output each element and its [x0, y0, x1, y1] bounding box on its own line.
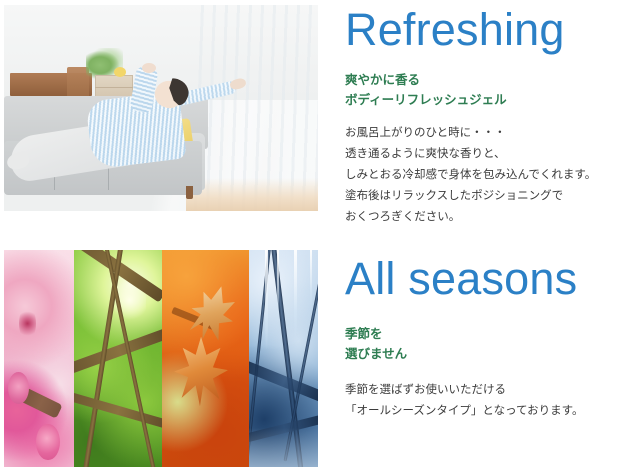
blossom-bud	[36, 424, 60, 461]
all-seasons-subheading-line-2: 選びません	[345, 344, 637, 364]
four-seasons-photo-art	[4, 250, 318, 467]
snow-layer	[249, 428, 318, 467]
product-feature-page: Refreshing 爽やかに香る ボディーリフレッシュジェル お風呂上がりのひ…	[0, 0, 640, 474]
icicle	[310, 250, 312, 311]
vine-branch	[74, 328, 162, 374]
cherry-blossom-center	[19, 306, 36, 341]
all-seasons-body-line-2: 「オールシーズンタイプ」となっております。	[345, 401, 637, 422]
season-panel-spring	[4, 250, 74, 467]
section-refreshing: Refreshing 爽やかに香る ボディーリフレッシュジェル お風呂上がりのひ…	[0, 0, 640, 232]
maple-leaf	[185, 280, 242, 346]
icicle	[277, 250, 279, 324]
vine-branch	[74, 392, 162, 430]
all-seasons-copy-block: All seasons 季節を 選びません 季節を選ばずお使いいただける 「オー…	[345, 245, 637, 422]
frozen-branch	[249, 360, 318, 402]
all-seasons-subheading: 季節を 選びません	[345, 302, 637, 364]
section-all-seasons: All seasons 季節を 選びません 季節を選ばずお使いいただける 「オー…	[0, 245, 640, 474]
four-seasons-strip-photo	[4, 250, 318, 467]
blossom-bud	[8, 372, 29, 405]
refreshing-headline: Refreshing	[345, 0, 637, 53]
season-panel-summer	[74, 250, 162, 467]
icicle	[265, 250, 267, 350]
living-room-photo-art	[4, 5, 318, 211]
maple-leaf	[174, 337, 228, 406]
all-seasons-subheading-line-1: 季節を	[345, 324, 637, 344]
season-panel-winter	[249, 250, 318, 467]
all-seasons-headline: All seasons	[345, 245, 637, 302]
season-panel-autumn	[162, 250, 249, 467]
sofa-foot	[186, 186, 193, 198]
refreshing-body-copy: お風呂上がりのひと時に・・・ 透き通るように爽快な香りと、 しみとおる冷却感で身…	[345, 110, 637, 228]
refreshing-subheading-line-1: 爽やかに香る	[345, 70, 637, 90]
refreshing-body-line-5: おくつろぎください。	[345, 207, 637, 228]
refreshing-subheading-line-2: ボディーリフレッシュジェル	[345, 90, 637, 110]
refreshing-subheading: 爽やかに香る ボディーリフレッシュジェル	[345, 53, 637, 110]
icicle	[294, 250, 296, 337]
all-seasons-body-copy: 季節を選ばずお使いいただける 「オールシーズンタイプ」となっております。	[345, 364, 637, 422]
living-room-relax-photo	[4, 5, 318, 211]
shelf-divider	[95, 87, 133, 88]
refreshing-body-line-3: しみとおる冷却感で身体を包み込んでくれます。	[345, 165, 637, 186]
refreshing-body-line-4: 塗布後はリラックスしたポジショニングで	[345, 186, 637, 207]
refreshing-body-line-1: お風呂上がりのひと時に・・・	[345, 123, 637, 144]
all-seasons-body-line-1: 季節を選ばずお使いいただける	[345, 380, 637, 401]
wood-floor	[186, 178, 318, 211]
refreshing-copy-block: Refreshing 爽やかに香る ボディーリフレッシュジェル お風呂上がりのひ…	[345, 0, 637, 228]
refreshing-body-line-2: 透き通るように爽快な香りと、	[345, 144, 637, 165]
